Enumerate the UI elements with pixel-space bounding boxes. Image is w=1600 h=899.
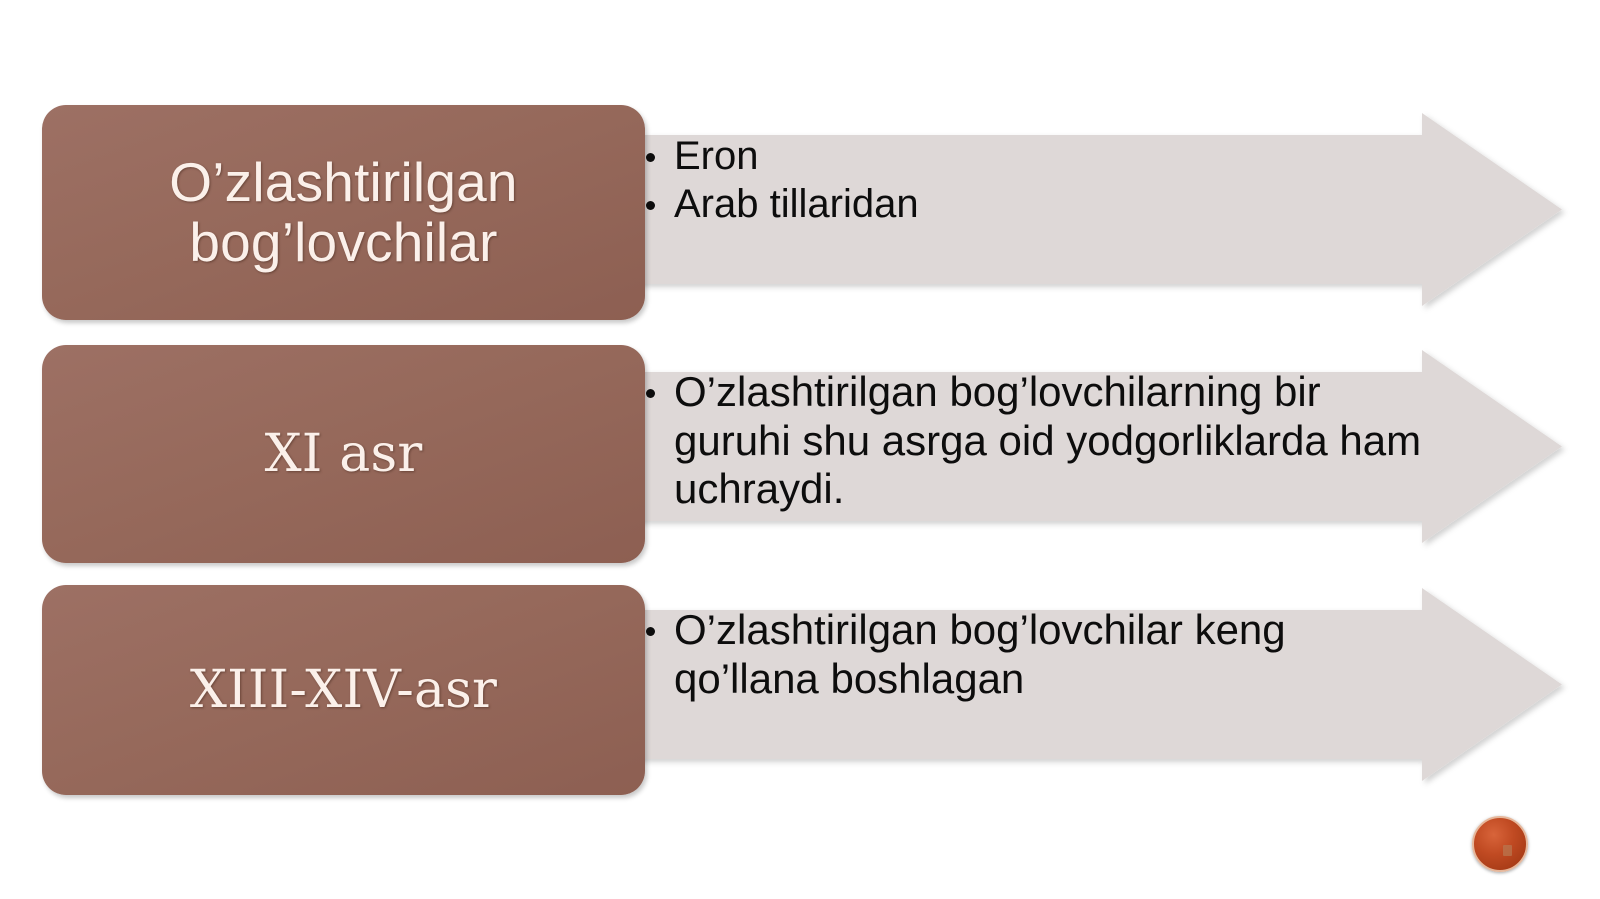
bullet-dot-icon <box>646 627 655 636</box>
logo-badge-ring <box>1472 816 1528 872</box>
row-3-label-box[interactable]: XIII-XIV-asr <box>42 585 645 795</box>
logo-badge-glyph <box>1503 845 1512 856</box>
row-3-bullet-1: O’zlashtirilgan bog’lovchilar keng qo’ll… <box>674 606 1286 702</box>
logo-badge-icon[interactable] <box>1472 816 1528 872</box>
bullet-dot-icon <box>646 389 655 398</box>
row-3-label-text: XIII-XIV-asr <box>190 662 497 718</box>
list-item: O’zlashtirilgan bog’lovchilarning bir gu… <box>636 368 1426 514</box>
row-2-label-box[interactable]: XI asr <box>42 345 645 563</box>
process-row-3: XIII-XIV-asr O’zlashtirilgan bog’lovchil… <box>0 0 1600 330</box>
row-3-bullet-list: O’zlashtirilgan bog’lovchilar keng qo’ll… <box>636 606 1436 705</box>
slide-canvas: O’zlashtirilgan bog’lovchilar Eron Arab … <box>0 0 1600 899</box>
row-2-bullet-list: O’zlashtirilgan bog’lovchilarning bir gu… <box>636 368 1426 516</box>
row-2-bullet-1: O’zlashtirilgan bog’lovchilarning bir gu… <box>674 368 1421 512</box>
list-item: O’zlashtirilgan bog’lovchilar keng qo’ll… <box>636 606 1436 703</box>
row-2-label-text: XI asr <box>265 426 423 482</box>
